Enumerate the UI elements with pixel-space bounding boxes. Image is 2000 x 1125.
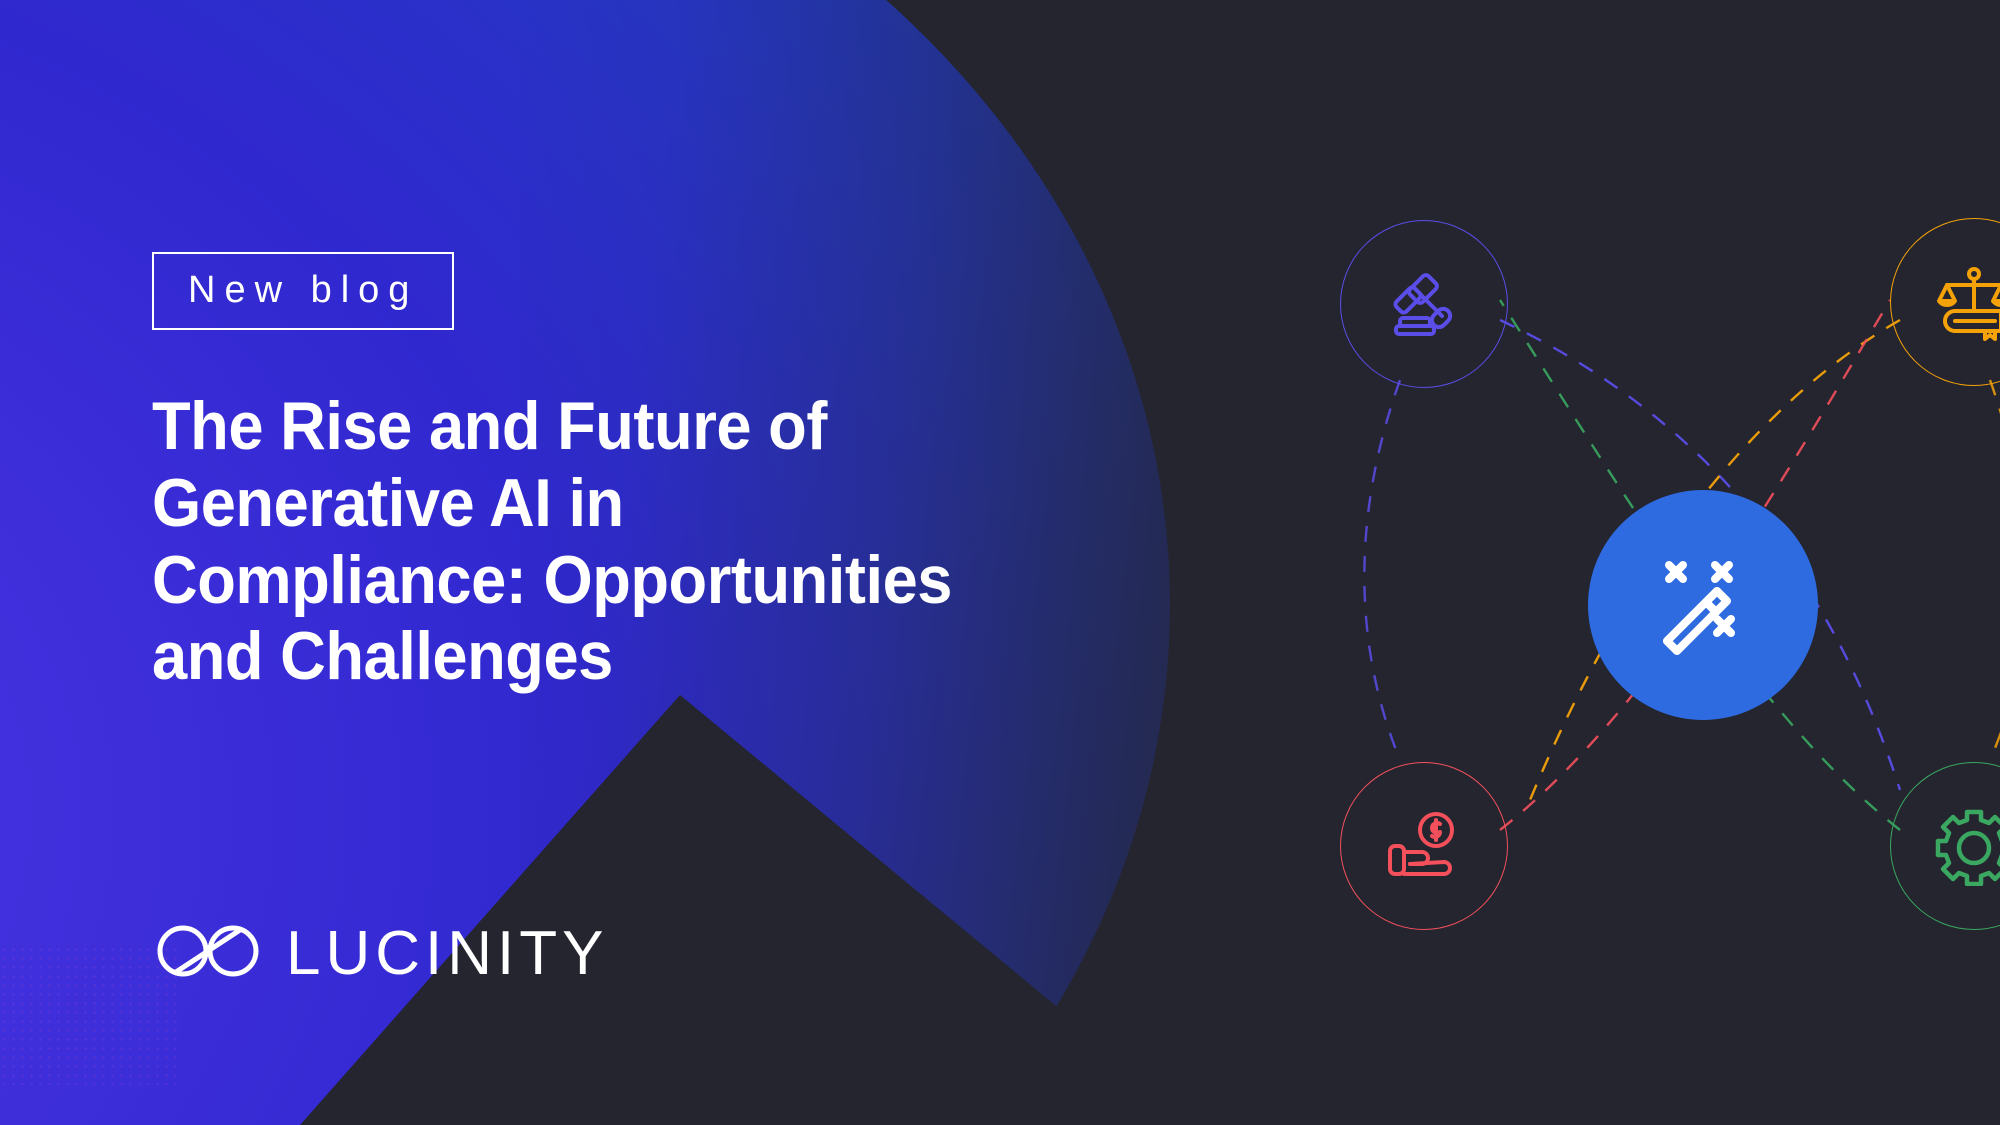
magic-wand-icon bbox=[1651, 553, 1755, 657]
gear-icon bbox=[1934, 806, 2000, 886]
headline-line-2: Generative AI in bbox=[152, 465, 1138, 542]
ai-compliance-diagram bbox=[1200, 0, 2000, 1125]
node-legal-ruling bbox=[1340, 220, 1508, 388]
headline-line-4: and Challenges bbox=[152, 618, 1138, 695]
gavel-icon bbox=[1384, 264, 1464, 344]
hand-coin-icon bbox=[1384, 806, 1464, 886]
blog-promo-banner: New blog The Rise and Future of Generati… bbox=[0, 0, 2000, 1125]
brand-name: LUCINITY bbox=[286, 923, 608, 985]
page-title: The Rise and Future of Generative AI in … bbox=[152, 388, 1138, 695]
node-generative-ai bbox=[1588, 490, 1818, 720]
banner-content: New blog The Rise and Future of Generati… bbox=[152, 0, 1212, 1125]
scales-book-icon bbox=[1933, 261, 2000, 343]
headline-line-1: The Rise and Future of bbox=[152, 388, 1138, 465]
headline-line-3: Compliance: Opportunities bbox=[152, 542, 1138, 619]
lucinity-logo: LUCINITY bbox=[152, 920, 608, 987]
infinity-loop-icon bbox=[152, 920, 264, 987]
new-blog-badge: New blog bbox=[152, 252, 454, 330]
node-financial-crime bbox=[1340, 762, 1508, 930]
